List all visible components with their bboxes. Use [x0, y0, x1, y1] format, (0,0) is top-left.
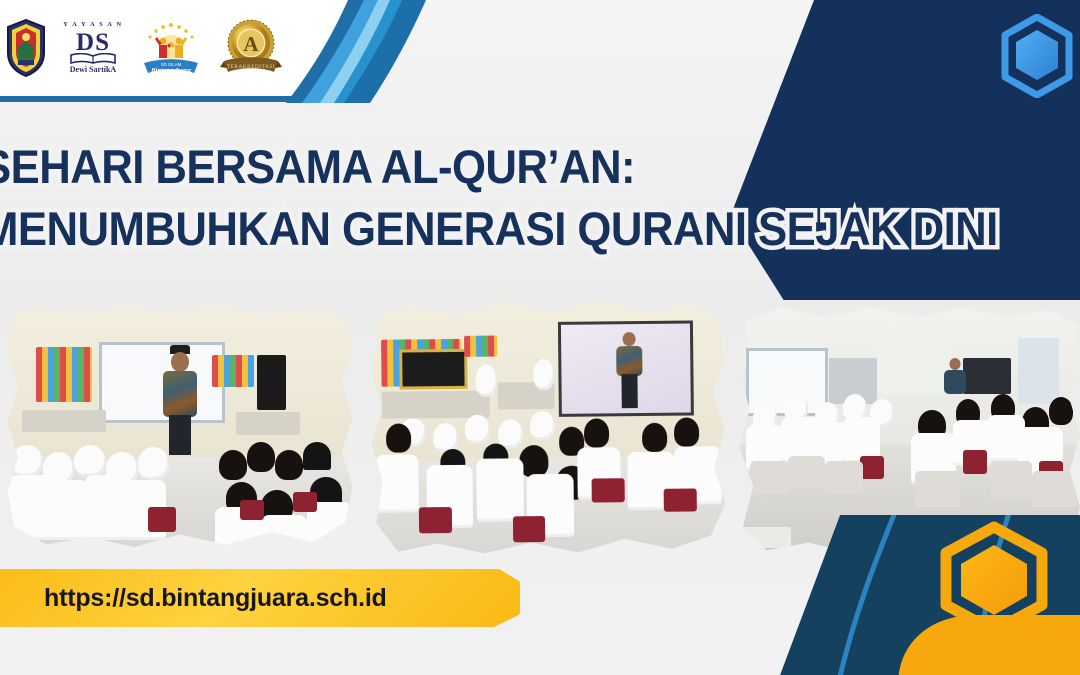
kabupaten-emblem-icon	[6, 19, 46, 77]
bj-line-2: Bintang Juara	[150, 67, 191, 74]
website-url-banner[interactable]: https://sd.bintangjuara.sch.id	[0, 569, 520, 627]
open-book-icon	[70, 53, 116, 64]
akreditasi-a-badge: A TERAKREDITASI	[218, 17, 284, 79]
logo-row: Y A Y A S A N DS Dewi SartikA	[0, 0, 316, 96]
ds-monogram: DS	[76, 30, 110, 55]
yayasan-dewi-sartika-logo: Y A Y A S A N DS Dewi SartikA	[62, 17, 124, 79]
hexagon-top-right-icon	[1000, 14, 1074, 98]
photo-ustadz-addressing-students	[4, 302, 356, 552]
title-line-1: SEHARI BERSAMA AL-QUR’AN:	[0, 136, 921, 198]
akreditasi-grade: A	[243, 32, 259, 56]
title-line-2: MENUMBUHKAN GENERASI QURANI SEJAK DINI	[0, 198, 921, 260]
poster-title: SEHARI BERSAMA AL-QUR’AN: MENUMBUHKAN GE…	[0, 136, 992, 260]
ds-top-text: Y A Y A S A N	[63, 22, 122, 29]
bottom-navy-decor	[780, 515, 1080, 675]
akreditasi-ribbon-text: TERAKREDITASI	[227, 64, 275, 70]
sd-bintang-juara-logo: SD ISLAM Bintang Juara	[140, 17, 202, 79]
photo-projector-presentation	[367, 294, 730, 560]
poster-canvas: Y A Y A S A N DS Dewi SartikA	[0, 0, 1080, 675]
website-url-text: https://sd.bintangjuara.sch.id	[44, 584, 387, 613]
ds-bottom-text: Dewi SartikA	[70, 66, 116, 74]
